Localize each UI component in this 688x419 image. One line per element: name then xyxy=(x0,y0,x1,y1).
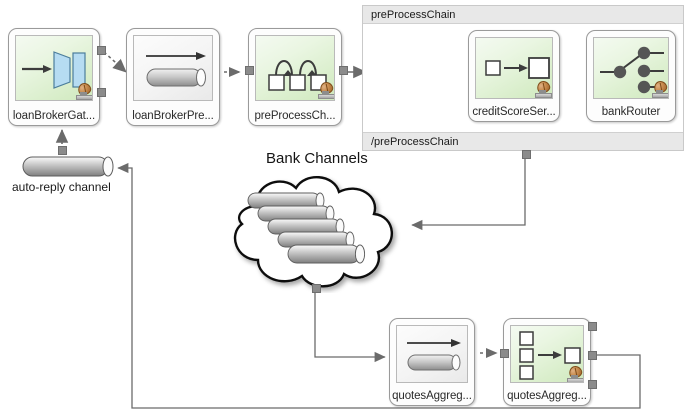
node-quotes-aggregator[interactable]: quotesAggreg... xyxy=(503,318,591,406)
node-bank-router[interactable]: bankRouter xyxy=(586,30,676,122)
bean-icon xyxy=(652,81,668,97)
auto-reply-channel-label: auto-reply channel xyxy=(12,180,111,194)
loan-broker-pre-icon-area xyxy=(133,35,213,101)
edge-gateway-to-prechannel xyxy=(104,52,126,72)
aggregator-handle-right-mid[interactable] xyxy=(588,351,597,360)
diagram-canvas: preProcessChain /preProcessChain loanBro… xyxy=(0,0,688,419)
edge-group-to-bank-channels xyxy=(412,157,525,225)
quotes-channel-icon-area xyxy=(396,325,468,383)
bank-channels-title: Bank Channels xyxy=(266,150,368,167)
node-label: quotesAggreg... xyxy=(390,390,474,402)
bank-router-icon-area xyxy=(593,37,669,99)
auto-reply-channel-pipe[interactable] xyxy=(20,152,120,182)
group-footer-label: /preProcessChain xyxy=(363,132,683,150)
loan-broker-gateway-icon-area xyxy=(15,35,93,101)
node-credit-score-service[interactable]: creditScoreSer... xyxy=(468,30,560,122)
gateway-handle-bottom[interactable] xyxy=(97,88,106,97)
node-pre-process-chain[interactable]: preProcessCh... xyxy=(248,28,342,126)
node-label: loanBrokerPre... xyxy=(127,110,219,122)
gateway-handle-top[interactable] xyxy=(97,46,106,55)
bean-icon xyxy=(318,82,334,98)
aggregator-handle-right-top[interactable] xyxy=(588,322,597,331)
bean-icon xyxy=(567,366,583,382)
credit-score-icon-area xyxy=(475,37,553,99)
edge-bank-channels-to-quotes-channel xyxy=(315,288,385,357)
channel-pipe-icon xyxy=(134,36,213,101)
cloud-bottom-handle[interactable] xyxy=(312,284,321,293)
auto-reply-handle[interactable] xyxy=(58,146,67,155)
channel-pipe-icon xyxy=(397,326,468,383)
node-loan-broker-gateway[interactable]: loanBrokerGat... xyxy=(8,28,100,126)
node-label: preProcessCh... xyxy=(249,110,341,122)
bean-icon xyxy=(535,81,551,97)
quotes-aggregator-icon-area xyxy=(510,325,584,383)
aggregator-handle-left[interactable] xyxy=(500,349,509,358)
group-bottom-handle[interactable] xyxy=(522,150,531,159)
pre-process-chain-icon-area xyxy=(255,35,335,101)
bank-channels-cloud[interactable] xyxy=(210,168,420,293)
chain-handle-right[interactable] xyxy=(339,66,348,75)
node-label: creditScoreSer... xyxy=(469,106,559,118)
node-label: loanBrokerGat... xyxy=(9,110,99,122)
node-loan-broker-pre-channel[interactable]: loanBrokerPre... xyxy=(126,28,220,126)
bean-icon xyxy=(76,83,92,99)
chain-handle-left[interactable] xyxy=(245,66,254,75)
node-label: quotesAggreg... xyxy=(504,390,590,402)
aggregator-handle-right-bottom[interactable] xyxy=(588,380,597,389)
node-quotes-aggregator-channel[interactable]: quotesAggreg... xyxy=(389,318,475,406)
node-label: bankRouter xyxy=(587,106,675,118)
group-header-label: preProcessChain xyxy=(363,6,683,24)
